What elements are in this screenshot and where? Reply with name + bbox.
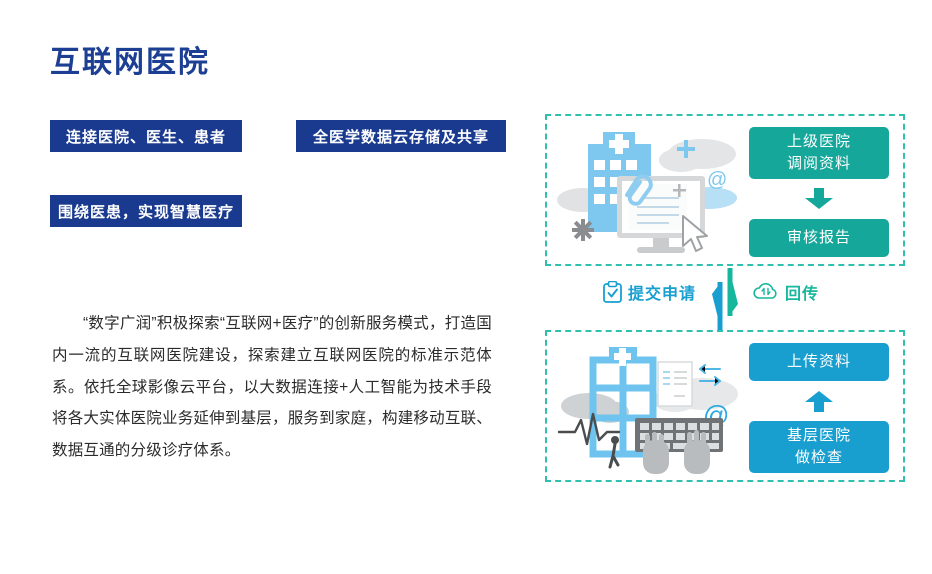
svg-text:@: @ — [707, 169, 727, 191]
bottom-panel: @ — [545, 330, 905, 482]
left-content-column: 互联网医院 连接医院、医生、患者 全医学数据云存储及共享 围绕医患，实现智慧医疗… — [0, 0, 540, 574]
flow-box-upload-data[interactable]: 上传资料 — [749, 343, 889, 381]
top-flow-column: 上级医院 调阅资料 审核报告 — [749, 127, 889, 257]
flow-box-primary-hospital[interactable]: 基层医院 做检查 — [749, 421, 889, 473]
badge-smart-healthcare: 围绕医患，实现智慧医疗 — [50, 195, 242, 227]
flow-box-line1: 上级医院 — [787, 131, 851, 153]
page-title: 互联网医院 — [50, 46, 210, 79]
connector-return: 回传 — [753, 280, 819, 304]
connector-submit-label: 提交申请 — [628, 280, 696, 304]
bidirectional-arrows-icon — [708, 268, 742, 330]
badge-connect-hospital: 连接医院、医生、患者 — [50, 120, 242, 152]
description-paragraph: “数字广润”积极探索“互联网+医疗”的创新服务模式，打造国内一流的互联网医院建设… — [52, 308, 492, 467]
workflow-diagram: @ — [540, 0, 932, 574]
connector-submit: 提交申请 — [603, 280, 696, 304]
arrow-down-icon — [804, 188, 834, 210]
clipboard-check-icon — [603, 281, 622, 303]
flow-box-line1: 基层医院 — [787, 425, 851, 447]
flow-box-line1: 上传资料 — [787, 351, 851, 373]
flow-box-line1: 审核报告 — [787, 227, 851, 249]
flow-box-line2: 调阅资料 — [787, 153, 851, 175]
bottom-flow-column: 上传资料 基层医院 做检查 — [749, 343, 889, 473]
hospital-monitor-illustration: @ — [557, 120, 742, 264]
badge-cloud-storage: 全医学数据云存储及共享 — [296, 120, 506, 152]
panel-connector: 提交申请 回传 — [545, 268, 905, 330]
hospital-keyboard-illustration: @ — [557, 336, 742, 480]
flow-box-line2: 做检查 — [795, 447, 843, 469]
top-panel: @ — [545, 114, 905, 266]
cloud-sync-icon — [753, 282, 779, 302]
flow-box-review-report[interactable]: 审核报告 — [749, 219, 889, 257]
connector-return-label: 回传 — [785, 280, 819, 304]
flow-box-superior-hospital[interactable]: 上级医院 调阅资料 — [749, 127, 889, 179]
arrow-up-icon — [804, 390, 834, 412]
